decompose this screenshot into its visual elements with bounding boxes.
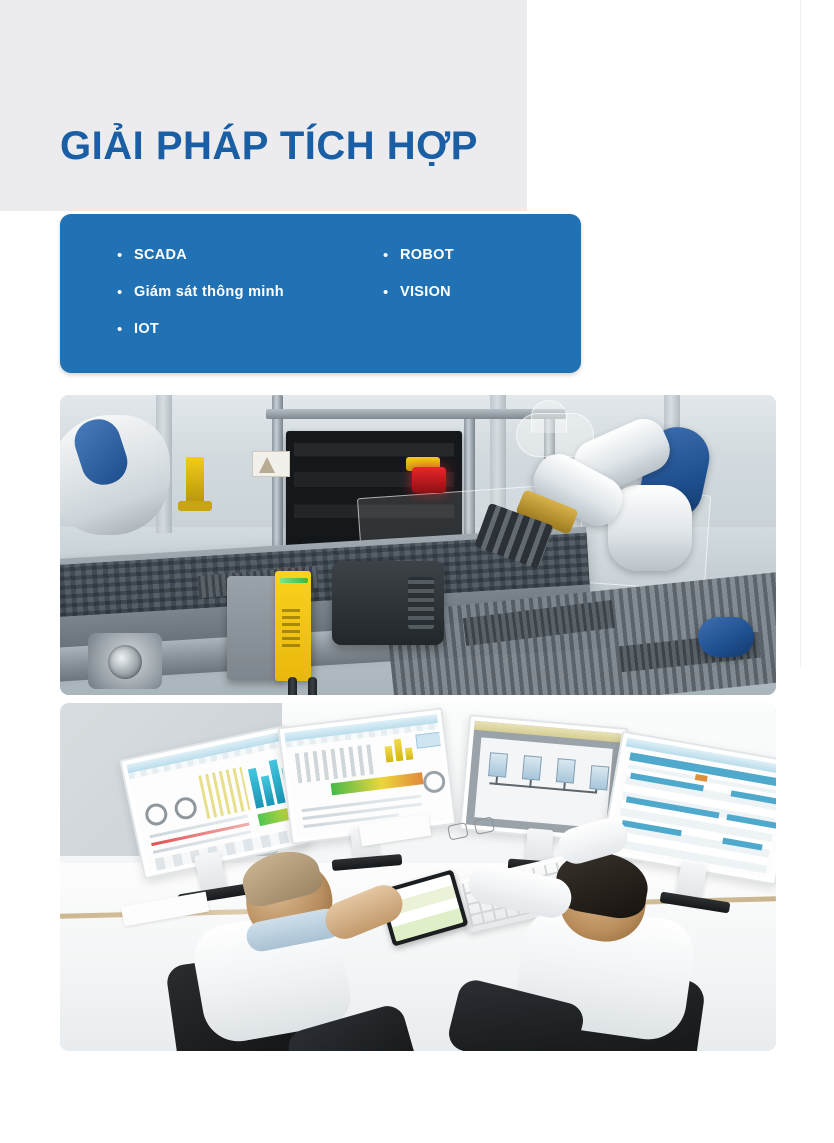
page-title: GIẢI PHÁP TÍCH HỢP	[60, 124, 478, 168]
floor-marker-post	[186, 457, 204, 503]
machine-frame	[266, 409, 566, 419]
feature-label: Giám sát thông minh	[134, 284, 284, 301]
photo-scene	[60, 703, 776, 1051]
list-item[interactable]: • VISION	[383, 284, 454, 301]
vision-controller-unit	[332, 561, 444, 645]
sensor-cable	[288, 677, 297, 695]
scada-control-room-photo	[60, 703, 776, 1051]
gear-motor	[88, 633, 162, 689]
list-item[interactable]: • Giám sát thông minh	[117, 284, 284, 301]
list-item[interactable]: • IOT	[117, 321, 284, 338]
feature-label: IOT	[134, 321, 159, 338]
gauge-widget	[173, 795, 199, 821]
bullet-icon: •	[117, 247, 134, 264]
feature-list-right: • ROBOT • VISION	[383, 247, 454, 321]
list-item[interactable]: • SCADA	[117, 247, 284, 264]
sensor-status-led	[280, 578, 308, 583]
bullet-icon: •	[383, 284, 400, 301]
sensor-cable	[308, 677, 317, 695]
robot-base-cover	[698, 617, 754, 657]
inspection-thumbnail	[252, 451, 290, 477]
machine-vision-robot-photo	[60, 395, 776, 695]
feature-label: ROBOT	[400, 247, 454, 264]
monitor-screen	[607, 737, 776, 878]
bullet-icon: •	[117, 321, 134, 338]
feature-label: VISION	[400, 284, 451, 301]
diagram-canvas	[474, 737, 612, 828]
gauge-widget	[143, 801, 169, 827]
vision-sensor-camera	[275, 571, 311, 681]
robotic-arm	[512, 421, 722, 621]
feature-card: • SCADA • Giám sát thông minh • IOT • RO…	[60, 214, 581, 373]
feature-list-left: • SCADA • Giám sát thông minh • IOT	[117, 247, 284, 358]
bullet-icon: •	[117, 284, 134, 301]
poster-page: GIẢI PHÁP TÍCH HỢP • SCADA • Giám sát th…	[0, 0, 834, 1143]
bullet-icon: •	[383, 247, 400, 264]
header-panel	[0, 0, 527, 211]
page-edge-divider	[800, 0, 801, 668]
indicator-box	[415, 732, 443, 749]
photo-scene	[60, 395, 776, 695]
gauge-widget	[422, 770, 447, 795]
schematic-widget	[295, 744, 378, 784]
list-item[interactable]: • ROBOT	[383, 247, 454, 264]
signal-lamp-red	[412, 467, 446, 493]
feature-label: SCADA	[134, 247, 187, 264]
trend-chart	[198, 767, 250, 819]
